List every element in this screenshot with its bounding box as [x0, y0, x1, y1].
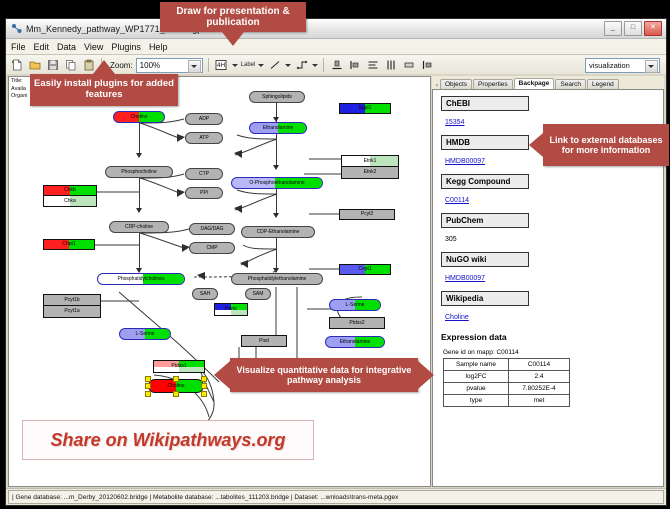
- gene-chkb[interactable]: Chkb: [44, 186, 96, 196]
- gene-sgpl1[interactable]: Sgpl1: [339, 103, 391, 114]
- node-label: Sphingolipids: [262, 95, 292, 100]
- order-icon[interactable]: [419, 58, 434, 73]
- node-sphingolipids[interactable]: Sphingolipids: [249, 91, 305, 103]
- node-dag-dag[interactable]: DAG/DAG: [189, 223, 235, 235]
- node-choline-selected-wrap[interactable]: Choline: [148, 379, 204, 393]
- visualization-value: visualization: [589, 61, 630, 70]
- value-half-up: [145, 329, 170, 339]
- cell-key: log2FC: [444, 371, 509, 383]
- tab-properties[interactable]: Properties: [473, 79, 513, 90]
- expression-table: Sample name C00114 log2FC 2.4 pvalue 7.8…: [443, 358, 570, 407]
- chevron-down-icon[interactable]: [188, 60, 201, 73]
- db-link-kegg[interactable]: C00114: [445, 197, 469, 204]
- gene-etnk2[interactable]: Etnk2: [342, 167, 398, 178]
- db-header-hmdb: HMDB: [441, 135, 529, 150]
- gene-id-line: Gene id on mapp: C00114: [443, 349, 663, 356]
- cell-value: 7.80252E-4: [509, 383, 570, 395]
- open-folder-icon[interactable]: [27, 58, 42, 73]
- node-label: DAG/DAG: [200, 227, 223, 232]
- value-half-up: [69, 240, 94, 249]
- gene-pcyt1a[interactable]: Pcyt1a: [44, 306, 100, 317]
- screenshot-root: Mm_Kennedy_pathway_WP1771_45176.gpml _ □…: [0, 0, 670, 509]
- maximize-button[interactable]: □: [624, 21, 642, 36]
- node-sah[interactable]: SAH: [192, 288, 218, 300]
- menu-view[interactable]: View: [84, 42, 103, 52]
- cell-value: C00114: [509, 359, 570, 371]
- text-tool-icon[interactable]: 4H: [214, 58, 229, 73]
- minimize-button[interactable]: _: [604, 21, 622, 36]
- resize-handle[interactable]: [201, 376, 207, 382]
- value-half-dn: [215, 310, 231, 316]
- tab-objects[interactable]: Objects: [440, 79, 472, 90]
- node-label: ATP: [199, 136, 208, 141]
- value-half-up: [139, 112, 164, 122]
- chevron-down-icon[interactable]: [285, 64, 291, 67]
- node-ethanolamine-right[interactable]: Ethanolamine: [325, 336, 385, 348]
- new-file-icon[interactable]: [9, 58, 24, 73]
- cell-key: type: [444, 395, 509, 407]
- node-label: Pcyt2: [361, 212, 374, 217]
- visualization-select[interactable]: visualization: [585, 58, 660, 73]
- node-l-serine-right[interactable]: L-Serine: [329, 299, 381, 311]
- node-l-serine-left[interactable]: L-Serine: [119, 328, 171, 340]
- chevron-down-icon[interactable]: [312, 64, 318, 67]
- table-row: Sample name C00114: [444, 359, 570, 371]
- node-phosphatidylethanolamine[interactable]: Phosphatidylethanolamine: [231, 273, 323, 285]
- value-half-up: [355, 300, 380, 310]
- pathway-metadata: Title: Availa Organi: [11, 78, 28, 101]
- menu-data[interactable]: Data: [57, 42, 76, 52]
- menu-file[interactable]: File: [11, 42, 26, 52]
- node-label: Pcyt1b: [64, 298, 79, 303]
- db-header-kegg: Kegg Compound: [441, 174, 529, 189]
- gene-chpt1[interactable]: Chpt1: [43, 239, 95, 250]
- node-cmp[interactable]: CMP: [189, 242, 235, 254]
- chevron-down-icon[interactable]: [645, 60, 658, 73]
- value-half-up: [70, 186, 96, 195]
- align-bottom-icon[interactable]: [329, 58, 344, 73]
- tab-backpage[interactable]: Backpage: [514, 78, 555, 90]
- node-label: CDP-choline: [125, 225, 153, 230]
- save-icon[interactable]: [45, 58, 60, 73]
- tab-search[interactable]: Search: [555, 79, 586, 90]
- resize-handle[interactable]: [201, 391, 207, 397]
- title-bar: Mm_Kennedy_pathway_WP1771_45176.gpml _ □…: [6, 19, 666, 39]
- node-label: CTP: [199, 172, 209, 177]
- expression-heading: Expression data: [441, 332, 663, 342]
- gene-group-pcyt1[interactable]: Pcyt1b Pcyt1a: [43, 294, 101, 318]
- db-link-hmdb[interactable]: HMDB00097: [445, 158, 485, 165]
- table-row: log2FC 2.4: [444, 371, 570, 383]
- db-header-wikipedia: Wikipedia: [441, 291, 529, 306]
- node-label: Ptdss2: [349, 321, 364, 326]
- node-ctp[interactable]: CTP: [185, 168, 223, 180]
- node-cdp-choline[interactable]: CDP-choline: [109, 221, 169, 233]
- zoom-select[interactable]: 100%: [136, 58, 203, 73]
- value-half-dn2: [231, 310, 247, 316]
- menu-edit[interactable]: Edit: [34, 42, 50, 52]
- distribute-horizontal-icon[interactable]: [383, 58, 398, 73]
- value-half-up: [275, 178, 322, 188]
- node-label: Phosphocholine: [121, 170, 157, 175]
- tab-legend[interactable]: Legend: [587, 79, 619, 90]
- chevron-down-icon[interactable]: [258, 64, 264, 67]
- node-label: CDP-Ethanolamine: [257, 230, 300, 235]
- gene-pisd[interactable]: Pisd: [241, 335, 287, 347]
- label-tool-label[interactable]: Label: [241, 62, 256, 68]
- copy-icon[interactable]: [63, 58, 78, 73]
- close-button[interactable]: ✕: [644, 21, 662, 36]
- node-label: SAH: [200, 292, 210, 297]
- gene-etnk1[interactable]: Etnk1: [342, 156, 398, 167]
- menu-help[interactable]: Help: [149, 42, 168, 52]
- value-half-up: [143, 274, 184, 284]
- node-o-phosphoethanolamine[interactable]: O-Phosphoethanolamine: [231, 177, 323, 189]
- table-row: type met: [444, 395, 570, 407]
- gene-pcyt2[interactable]: Pcyt2: [339, 209, 395, 220]
- value-half-dn2: [179, 367, 204, 373]
- status-bar: | Gene database: ...m_Derby_20120602.bri…: [6, 488, 666, 505]
- db-link-wikipedia[interactable]: Choline: [445, 314, 469, 321]
- chevron-down-icon[interactable]: [232, 64, 238, 67]
- node-label: Pcyt1a: [64, 309, 79, 314]
- value-half-up: [278, 123, 306, 133]
- node-sam[interactable]: SAM: [245, 288, 271, 300]
- line-icon[interactable]: [267, 58, 282, 73]
- gene-pemt[interactable]: Pemt: [214, 303, 248, 316]
- db-link-chebi[interactable]: 15354: [445, 119, 464, 126]
- value-half-up: [70, 196, 96, 206]
- node-phosphatidylcholines[interactable]: Phosphatidylcholines: [97, 273, 185, 285]
- node-cdp-ethanolamine[interactable]: CDP-Ethanolamine: [241, 226, 315, 238]
- callout-links: Link to external databases for more info…: [543, 124, 669, 166]
- gene-pcyt1b[interactable]: Pcyt1b: [44, 295, 100, 306]
- value-half-up: [365, 104, 390, 113]
- resize-handle[interactable]: [145, 391, 151, 397]
- distribute-vertical-icon[interactable]: [365, 58, 380, 73]
- meta-availability: Availa: [11, 86, 28, 94]
- node-label: Phosphatidylethanolamine: [248, 277, 307, 282]
- tab-bar: ‹ Objects Properties Backpage Search Leg…: [432, 76, 664, 89]
- zoom-value: 100%: [140, 61, 160, 70]
- table-row: pvalue 7.80252E-4: [444, 383, 570, 395]
- node-label: ADP: [199, 117, 209, 122]
- callout-plugins: Easily install plugins for added feature…: [30, 74, 178, 106]
- value-half-up: [370, 156, 398, 166]
- node-phosphocholine[interactable]: Phosphocholine: [105, 166, 173, 178]
- toolbar-separator: [323, 58, 324, 72]
- align-left-icon[interactable]: [347, 58, 362, 73]
- cell-value: met: [509, 395, 570, 407]
- node-label: SAM: [253, 292, 264, 297]
- node-label: CMP: [206, 246, 217, 251]
- meta-title: Title:: [11, 78, 28, 86]
- value-half-up: [355, 337, 384, 347]
- node-atp[interactable]: ATP: [185, 132, 223, 144]
- gene-ptdss1[interactable]: Ptdss1: [153, 360, 205, 373]
- node-label: Pisd: [259, 339, 269, 344]
- node-choline-top[interactable]: Choline: [113, 111, 165, 123]
- group-icon[interactable]: [401, 58, 416, 73]
- db-header-pubchem: PubChem: [441, 213, 529, 228]
- db-header-chebi: ChEBI: [441, 96, 529, 111]
- resize-handle[interactable]: [201, 383, 207, 389]
- value-half-up: [176, 380, 203, 392]
- menu-plugins[interactable]: Plugins: [111, 42, 141, 52]
- cell-key: Sample name: [444, 359, 509, 371]
- cell-key: pvalue: [444, 383, 509, 395]
- resize-handle[interactable]: [145, 383, 151, 389]
- toolbar-separator: [208, 58, 209, 72]
- menu-bar: File Edit Data View Plugins Help: [6, 39, 666, 55]
- callout-visualize: Visualize quantitative data for integrat…: [230, 358, 418, 392]
- gene-ptdss2[interactable]: Ptdss2: [329, 317, 385, 329]
- resize-handle[interactable]: [173, 376, 179, 382]
- status-text: | Gene database: ...m_Derby_20120602.bri…: [8, 490, 664, 504]
- resize-handle[interactable]: [173, 391, 179, 397]
- db-header-nugo: NuGO wiki: [441, 252, 529, 267]
- app-icon: [11, 23, 22, 34]
- gene-group-chk[interactable]: Chkb Chka: [43, 185, 97, 207]
- resize-handle[interactable]: [145, 376, 151, 382]
- callout-draw: Draw for presentation & publication: [160, 2, 306, 32]
- svg-text:4H: 4H: [217, 62, 225, 69]
- meta-organism: Organi: [11, 93, 28, 101]
- node-adp[interactable]: ADP: [185, 113, 223, 125]
- gene-chka[interactable]: Chka: [44, 196, 96, 206]
- elbow-connector-icon[interactable]: [294, 58, 309, 73]
- value-half-up: [365, 265, 390, 274]
- node-label: Etnk2: [364, 170, 377, 175]
- cell-value: 2.4: [509, 371, 570, 383]
- window-buttons: _ □ ✕: [604, 21, 663, 36]
- node-ethanolamine-top[interactable]: Ethanolamine: [249, 122, 307, 134]
- gene-group-etnk[interactable]: Etnk1 Etnk2: [341, 155, 399, 179]
- db-link-nugo[interactable]: HMDB00097: [445, 275, 485, 282]
- value-half-dn: [154, 367, 179, 373]
- callout-share: Share on Wikipathways.org: [22, 420, 314, 460]
- db-value-pubchem: 305: [445, 236, 457, 243]
- node-ppi[interactable]: PPi: [185, 187, 223, 199]
- gene-cept1[interactable]: Cept1: [339, 264, 391, 275]
- node-label: PPi: [200, 191, 208, 196]
